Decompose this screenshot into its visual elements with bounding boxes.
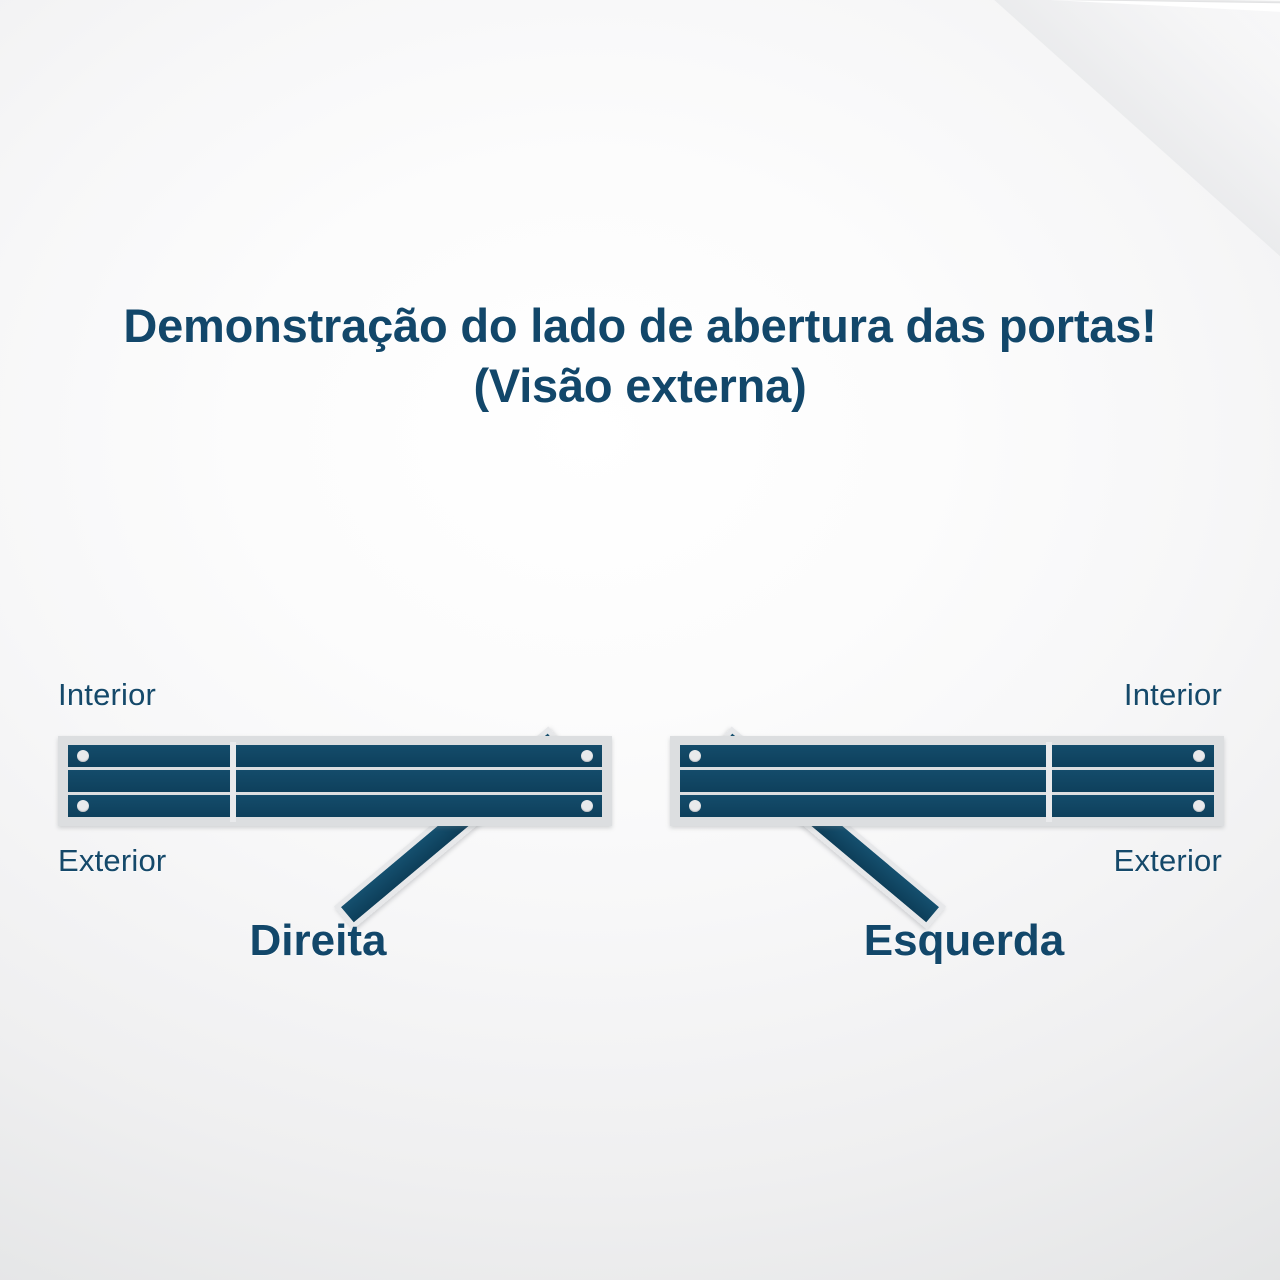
frame-bar-bottom (680, 795, 1214, 817)
frame-bar-middle (68, 770, 602, 792)
hinge-dot-bottom-right-icon (1193, 800, 1205, 812)
frame-bar-middle (680, 770, 1214, 792)
hinge-dot-top-right-icon (1193, 750, 1205, 762)
poster-canvas: Demonstração do lado de abertura das por… (0, 0, 1280, 1280)
title-line-secondary: (Visão externa) (0, 356, 1280, 416)
caption-esquerda: Esquerda (664, 916, 1264, 966)
frame-divider (230, 742, 236, 822)
frame-divider (1046, 742, 1052, 822)
page-fold-corner-icon (992, 0, 1280, 258)
door-diagram-direita: Interior Exterior Direita (34, 520, 634, 980)
interior-label-esquerda: Interior (1124, 677, 1222, 713)
hinge-dot-bottom-left-icon (689, 800, 701, 812)
exterior-label-esquerda: Exterior (1114, 843, 1222, 879)
frame-bar-top (68, 745, 602, 767)
hinge-dot-top-left-icon (689, 750, 701, 762)
hinge-dot-top-left-icon (77, 750, 89, 762)
frame-bar-top (680, 745, 1214, 767)
exterior-label-direita: Exterior (58, 843, 166, 879)
door-frame-direita (58, 736, 612, 826)
frame-bar-bottom (68, 795, 602, 817)
interior-label-direita: Interior (58, 677, 156, 713)
title-line-primary: Demonstração do lado de abertura das por… (0, 296, 1280, 356)
hinge-dot-bottom-right-icon (581, 800, 593, 812)
hinge-dot-bottom-left-icon (77, 800, 89, 812)
caption-direita: Direita (18, 916, 618, 966)
door-diagram-esquerda: Interior Exterior Esquerda (646, 520, 1246, 980)
page-title: Demonstração do lado de abertura das por… (0, 296, 1280, 416)
hinge-dot-top-right-icon (581, 750, 593, 762)
door-frame-esquerda (670, 736, 1224, 826)
